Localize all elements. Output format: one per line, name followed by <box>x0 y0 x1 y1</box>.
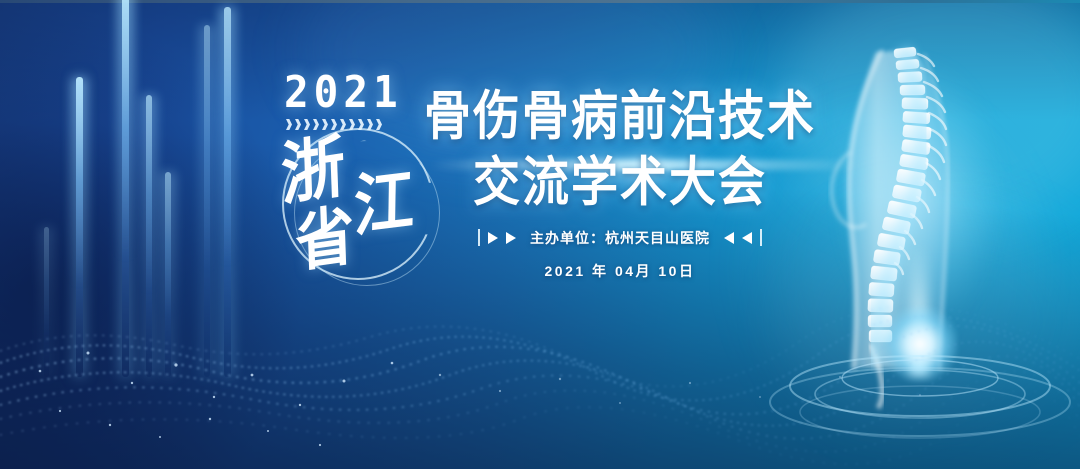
date-text: 2021 年 04月 10日 <box>410 261 830 281</box>
vertical-bar-icon <box>760 229 762 246</box>
title-line-2: 交流学术大会 <box>410 155 830 211</box>
particle-wave-mesh <box>0 279 1080 469</box>
play-right-icon <box>506 232 516 244</box>
host-text: 主办单位：杭州天目山医院 <box>524 228 716 248</box>
play-left-icon <box>742 232 752 244</box>
vertical-bar-icon <box>478 229 480 246</box>
host-row: 主办单位：杭州天目山医院 <box>410 228 830 248</box>
play-left-icon <box>724 232 734 244</box>
title-block: 骨伤骨病前沿技术 交流学术大会 主办单位：杭州天目山医院 2021 年 04月 … <box>410 92 830 281</box>
calligraphy-char-2: 江 <box>353 166 415 241</box>
title-line-1: 骨伤骨病前沿技术 <box>410 89 830 145</box>
play-right-icon <box>488 232 498 244</box>
calligraphy-char-3: 省 <box>295 202 356 276</box>
particle-wave-svg <box>0 279 1080 469</box>
conference-banner: 2021 浙 江 省 骨伤骨病前沿技术 交流学术大会 主办单位：杭州天目山医院 <box>0 0 1080 469</box>
